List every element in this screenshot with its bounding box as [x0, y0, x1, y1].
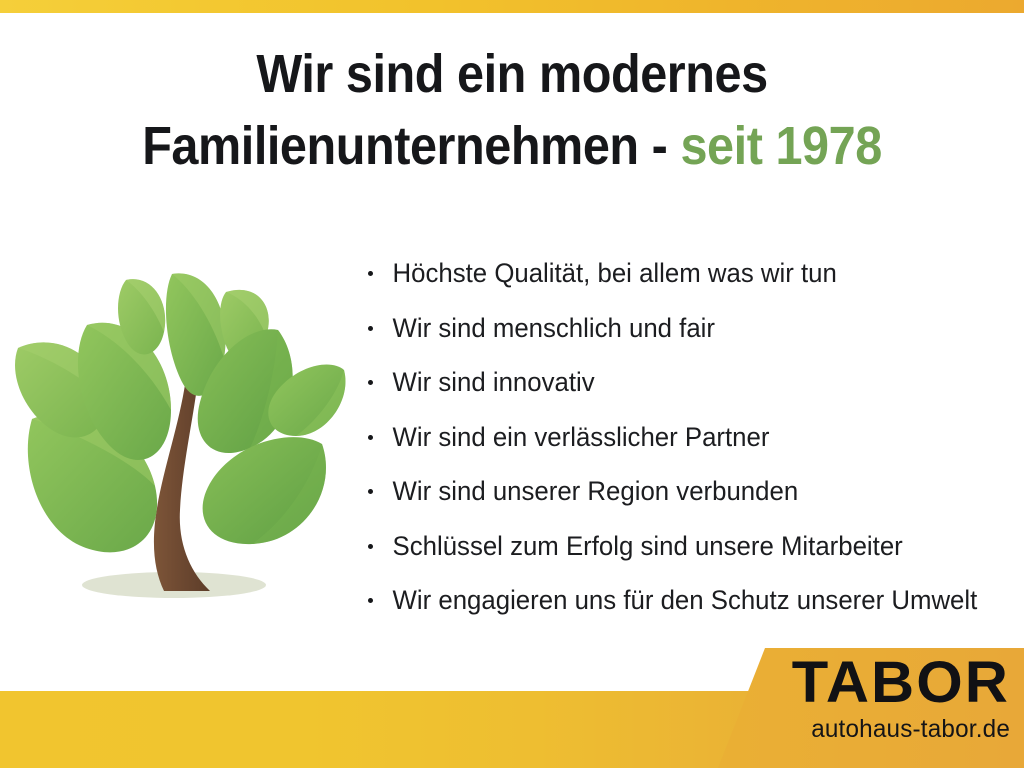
list-item-label: Wir sind menschlich und fair	[362, 312, 715, 344]
list-item: Wir engagieren uns für den Schutz unsere…	[362, 573, 1017, 628]
page-title-accent: seit 1978	[680, 116, 881, 176]
slide-canvas: Wir sind ein modernes Familienunternehme…	[0, 0, 1024, 768]
list-item-label: Schlüssel zum Erfolg sind unsere Mitarbe…	[362, 530, 903, 562]
page-title-line-2-plain: Familienunternehmen -	[142, 116, 680, 176]
list-item-label: Wir engagieren uns für den Schutz unsere…	[362, 584, 977, 616]
list-item-label: Wir sind innovativ	[362, 366, 595, 398]
list-item-label: Wir sind ein verlässlicher Partner	[362, 421, 769, 453]
page-title: Wir sind ein modernes Familienunternehme…	[51, 38, 973, 182]
page-title-line-2: Familienunternehmen - seit 1978	[51, 110, 973, 182]
brand-website-label: autohaus-tabor.de	[762, 716, 1010, 743]
list-item: Schlüssel zum Erfolg sind unsere Mitarbe…	[362, 519, 1017, 574]
page-title-line-1: Wir sind ein modernes	[51, 38, 973, 110]
brand-logo-wordmark: TABOR	[746, 655, 1010, 711]
list-item: Wir sind ein verlässlicher Partner	[362, 410, 1017, 465]
list-item: Höchste Qualität, bei allem was wir tun	[362, 246, 1017, 301]
top-accent-bar	[0, 0, 1024, 13]
value-list: Höchste Qualität, bei allem was wir tun …	[362, 246, 1017, 628]
tree-illustration	[14, 252, 350, 608]
list-item: Wir sind menschlich und fair	[362, 301, 1017, 356]
list-item: Wir sind innovativ	[362, 355, 1017, 410]
list-item-label: Höchste Qualität, bei allem was wir tun	[362, 257, 837, 289]
list-item-label: Wir sind unserer Region verbunden	[362, 475, 798, 507]
brand-logo[interactable]: TABOR autohaus-tabor.de	[754, 655, 1010, 743]
list-item: Wir sind unserer Region verbunden	[362, 464, 1017, 519]
